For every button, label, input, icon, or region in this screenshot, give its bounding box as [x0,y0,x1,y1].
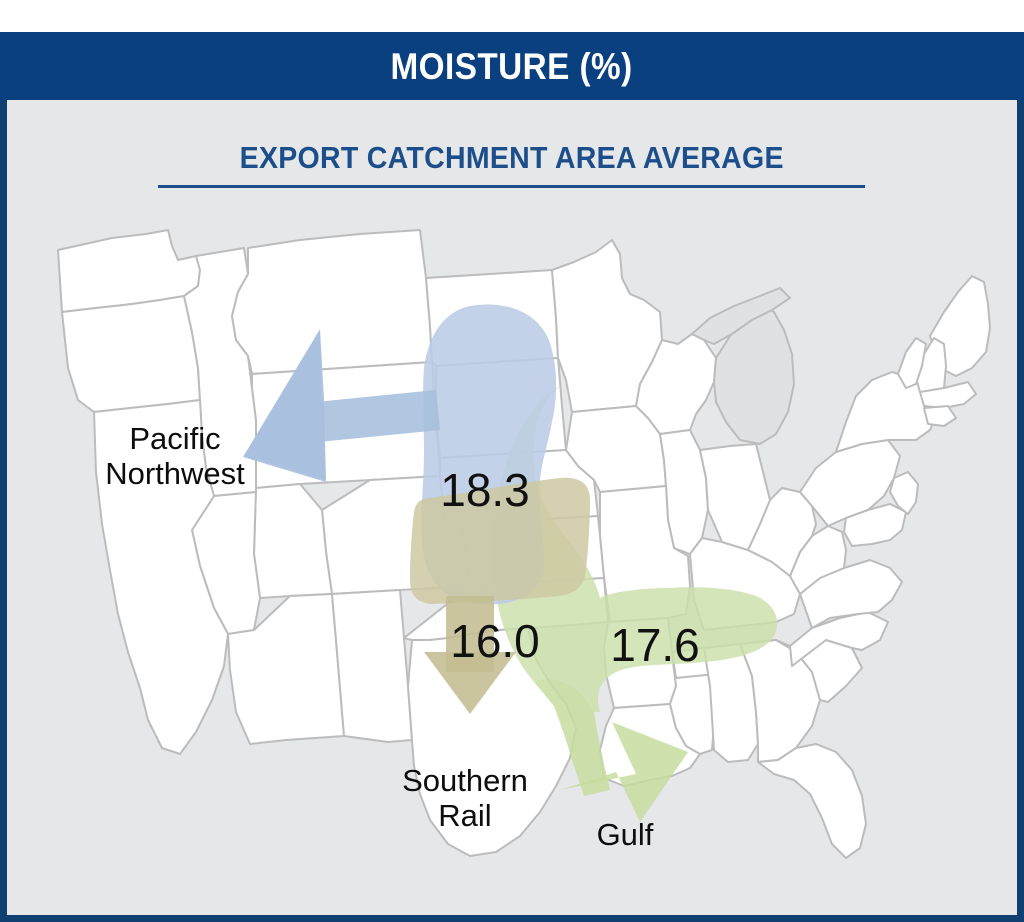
page-title: MOISTURE (%) [391,48,633,85]
state-mt [232,230,432,374]
state-or [62,296,200,412]
value-gulf: 17.6 [585,622,725,668]
state-ct [924,406,956,426]
state-nm [332,590,412,742]
header-bar: MOISTURE (%) [0,32,1024,100]
state-fl [758,744,866,858]
label-gulf: Gulf [560,818,690,853]
us-map: Pacific Northwest Southern Rail Gulf 18.… [0,100,1024,922]
label-pacific-northwest: Pacific Northwest [60,422,290,491]
value-southern-rail: 16.0 [425,618,565,664]
value-pacific-northwest: 18.3 [415,467,555,513]
infographic-page: MOISTURE (%) EXPORT CATCHMENT AREA AVERA… [0,0,1024,922]
label-southern-rail: Southern Rail [360,764,570,833]
state-ut [254,484,332,598]
